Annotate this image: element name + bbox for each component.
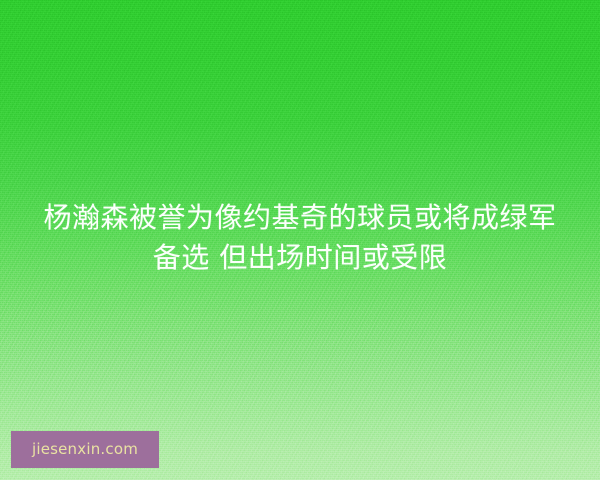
watermark-label: jiesenxin.com (32, 442, 138, 457)
image-canvas: 杨瀚森被誉为像约基奇的球员或将成绿军 备选 但出场时间或受限 jiesenxin… (0, 0, 600, 480)
watermark-badge: jiesenxin.com (11, 431, 159, 468)
headline-text: 杨瀚森被誉为像约基奇的球员或将成绿军 备选 但出场时间或受限 (0, 198, 600, 278)
